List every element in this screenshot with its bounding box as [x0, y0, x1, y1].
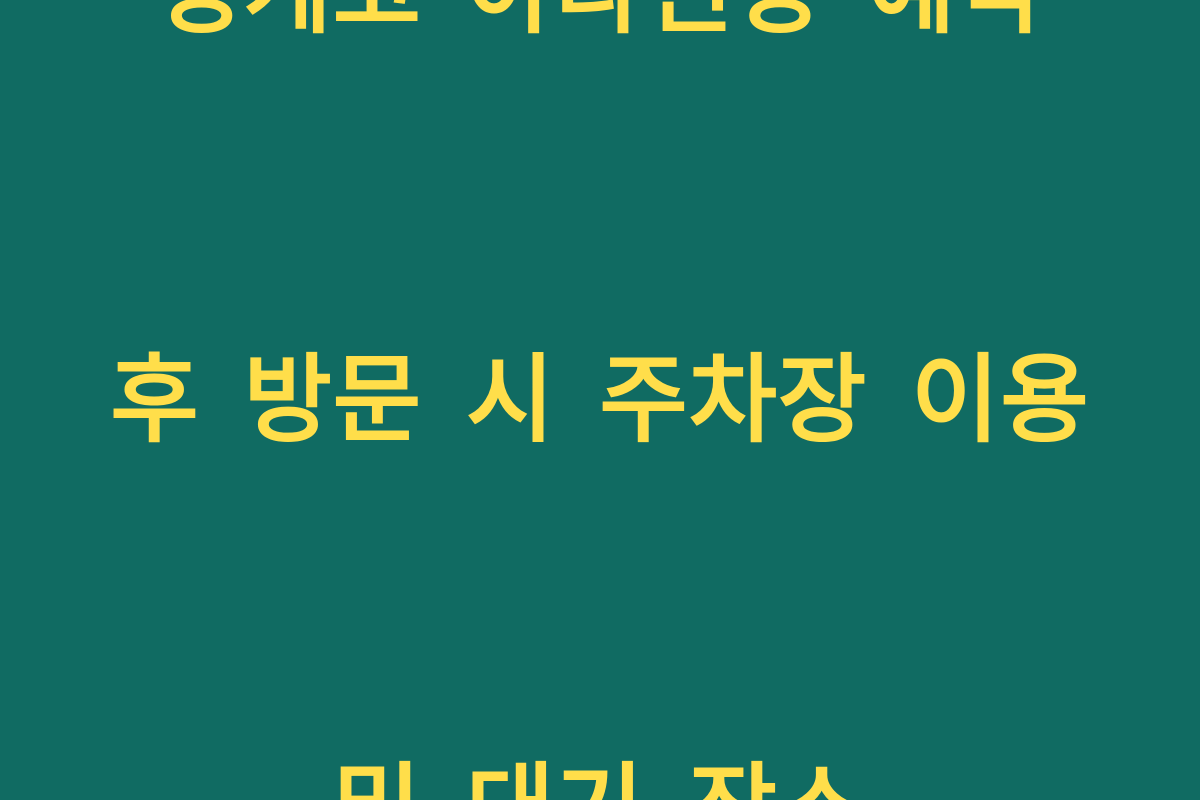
headline-line-2: 후 방문 시 주차장 이용 [50, 332, 1150, 468]
headline-line-1: 핑계고 아라찐빵 예약 [50, 0, 1150, 59]
page-title: 핑계고 아라찐빵 예약 후 방문 시 주차장 이용 및 대기 장소 [50, 0, 1150, 800]
banner-container: 핑계고 아라찐빵 예약 후 방문 시 주차장 이용 및 대기 장소 [0, 0, 1200, 800]
headline-line-3: 및 대기 장소 [50, 741, 1150, 800]
